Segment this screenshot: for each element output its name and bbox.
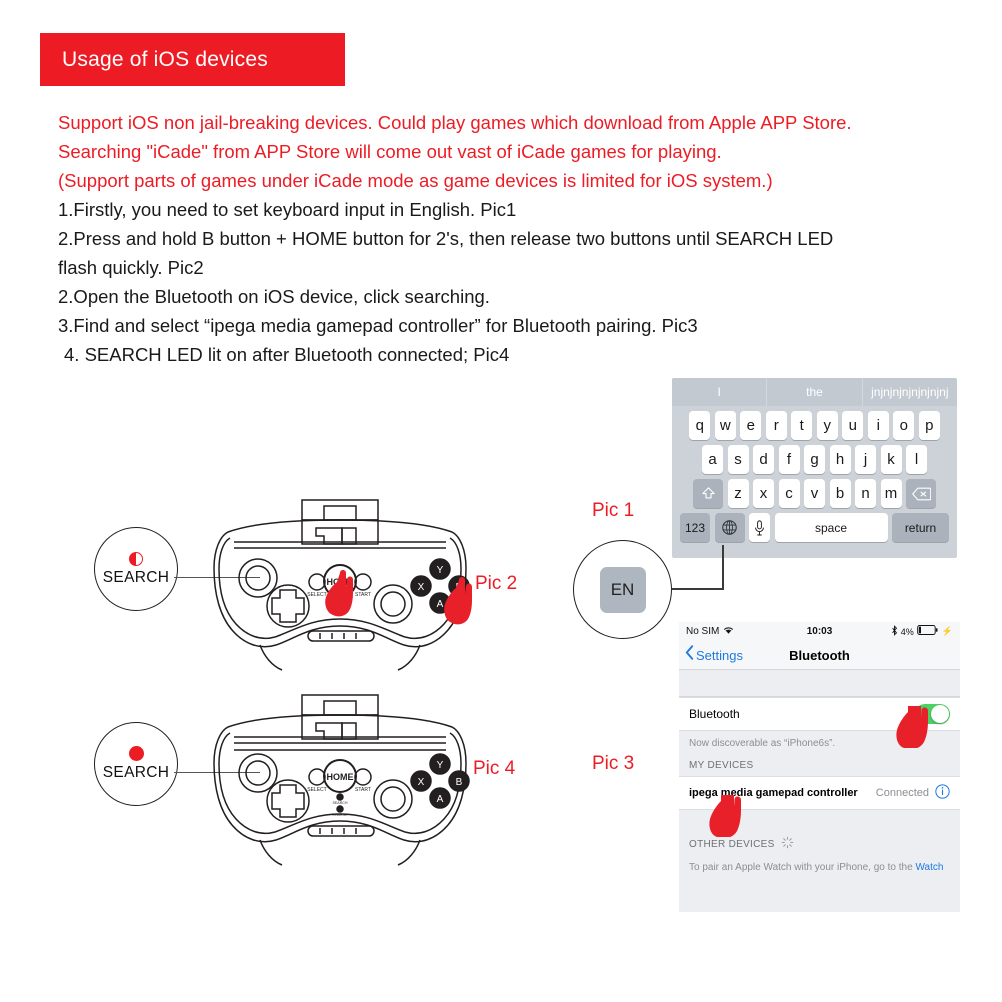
battery-percent: 4% bbox=[901, 627, 914, 637]
numeric-key[interactable]: 123 bbox=[680, 513, 710, 542]
key-h[interactable]: h bbox=[830, 445, 851, 474]
bottom-filler bbox=[679, 876, 960, 912]
my-devices-header: MY DEVICES bbox=[679, 752, 960, 776]
instruction-step-2a: 2.Press and hold B button + HOME button … bbox=[58, 224, 978, 253]
gamepad-diagram-pic4: HOME SELECT START SEARCH CHARGE Y X B A bbox=[190, 693, 490, 868]
key-k[interactable]: k bbox=[881, 445, 902, 474]
page-header-banner: Usage of iOS devices bbox=[40, 33, 345, 86]
device-status: Connected bbox=[876, 787, 929, 799]
svg-text:START: START bbox=[355, 787, 371, 793]
toggle-knob bbox=[931, 705, 949, 723]
prediction-1[interactable]: I bbox=[672, 378, 767, 406]
svg-text:A: A bbox=[437, 794, 444, 805]
instructions-block: Support iOS non jail-breaking devices. C… bbox=[58, 108, 978, 369]
en-leader-vertical bbox=[722, 545, 724, 590]
instruction-step-2b: flash quickly. Pic2 bbox=[58, 253, 978, 282]
key-b[interactable]: b bbox=[830, 479, 851, 508]
activity-spinner-icon bbox=[781, 836, 794, 852]
instruction-step-1: 1.Firstly, you need to set keyboard inpu… bbox=[58, 195, 978, 224]
keyboard-row-2: a s d f g h j k l bbox=[672, 445, 957, 474]
ios-status-bar: No SIM 10:03 4% ⚡ bbox=[679, 622, 960, 641]
key-f[interactable]: f bbox=[779, 445, 800, 474]
en-key-callout: EN bbox=[573, 540, 672, 639]
back-label: Settings bbox=[696, 648, 743, 663]
instruction-step-3: 2.Open the Bluetooth on iOS device, clic… bbox=[58, 282, 978, 311]
key-c[interactable]: c bbox=[779, 479, 800, 508]
page-title: Usage of iOS devices bbox=[40, 48, 268, 72]
key-t[interactable]: t bbox=[791, 411, 812, 440]
svg-text:SELECT: SELECT bbox=[307, 592, 326, 598]
key-m[interactable]: m bbox=[881, 479, 902, 508]
watch-link[interactable]: Watch bbox=[915, 862, 943, 873]
space-key[interactable]: space bbox=[775, 513, 888, 542]
bluetooth-icon bbox=[891, 625, 898, 639]
key-g[interactable]: g bbox=[804, 445, 825, 474]
status-time: 10:03 bbox=[807, 626, 833, 637]
led-indicator-solid-icon bbox=[129, 746, 144, 761]
charging-bolt-icon: ⚡ bbox=[942, 626, 953, 637]
carrier-label: No SIM bbox=[686, 626, 719, 637]
en-key-box: EN bbox=[600, 567, 646, 613]
info-icon[interactable] bbox=[935, 784, 950, 802]
key-i[interactable]: i bbox=[868, 411, 889, 440]
keyboard-row-3: z x c v b n m bbox=[672, 479, 957, 508]
key-n[interactable]: n bbox=[855, 479, 876, 508]
svg-text:START: START bbox=[355, 592, 371, 598]
key-w[interactable]: w bbox=[715, 411, 736, 440]
wifi-icon bbox=[723, 626, 734, 638]
svg-text:X: X bbox=[418, 582, 425, 593]
svg-text:SEARCH: SEARCH bbox=[333, 801, 348, 805]
predictive-text-bar[interactable]: I the jnjnjnjnjnjnjnjnj bbox=[672, 378, 957, 406]
hand-pointer-device bbox=[708, 795, 742, 842]
search-label-lit: SEARCH bbox=[103, 764, 169, 782]
return-key[interactable]: return bbox=[892, 513, 949, 542]
navigation-bar: Settings Bluetooth bbox=[679, 641, 960, 670]
battery-icon bbox=[917, 625, 939, 638]
section-gap bbox=[679, 670, 960, 697]
instruction-red-1: Support iOS non jail-breaking devices. C… bbox=[58, 108, 978, 137]
key-p[interactable]: p bbox=[919, 411, 940, 440]
shift-icon[interactable] bbox=[693, 479, 723, 508]
nav-title: Bluetooth bbox=[789, 648, 850, 663]
search-led-flash-callout: SEARCH bbox=[94, 527, 178, 611]
svg-text:A: A bbox=[437, 599, 444, 610]
ios-keyboard[interactable]: I the jnjnjnjnjnjnjnjnj q w e r t y u i … bbox=[672, 378, 957, 558]
svg-text:HOME: HOME bbox=[327, 772, 354, 782]
svg-text:X: X bbox=[418, 777, 425, 788]
key-v[interactable]: v bbox=[804, 479, 825, 508]
key-l[interactable]: l bbox=[906, 445, 927, 474]
hand-pointer-toggle bbox=[895, 706, 929, 753]
key-q[interactable]: q bbox=[689, 411, 710, 440]
pic-label-1: Pic 1 bbox=[592, 500, 634, 522]
bluetooth-toggle-label: Bluetooth bbox=[689, 707, 740, 721]
key-x[interactable]: x bbox=[753, 479, 774, 508]
hand-pointer-b bbox=[444, 577, 472, 624]
microphone-icon[interactable] bbox=[749, 513, 770, 542]
pic-label-3: Pic 3 bbox=[592, 753, 634, 775]
svg-text:B: B bbox=[456, 777, 463, 788]
key-z[interactable]: z bbox=[728, 479, 749, 508]
backspace-icon[interactable] bbox=[906, 479, 936, 508]
chevron-left-icon bbox=[685, 645, 694, 665]
key-y[interactable]: y bbox=[817, 411, 838, 440]
pic-label-4: Pic 4 bbox=[473, 758, 515, 780]
back-button[interactable]: Settings bbox=[679, 645, 743, 665]
ios-bluetooth-screen[interactable]: No SIM 10:03 4% ⚡ Settings Bluetooth Blu… bbox=[679, 622, 960, 912]
instruction-red-3: (Support parts of games under iCade mode… bbox=[58, 166, 978, 195]
en-leader-horizontal bbox=[672, 588, 724, 590]
search-led-lit-callout: SEARCH bbox=[94, 722, 178, 806]
watch-note-text: To pair an Apple Watch with your iPhone,… bbox=[689, 862, 915, 873]
key-s[interactable]: s bbox=[728, 445, 749, 474]
key-o[interactable]: o bbox=[893, 411, 914, 440]
instruction-red-2: Searching "iCade" from APP Store will co… bbox=[58, 137, 978, 166]
led-indicator-half-icon bbox=[129, 552, 143, 566]
globe-icon[interactable] bbox=[715, 513, 745, 542]
keyboard-row-1: q w e r t y u i o p bbox=[672, 411, 957, 440]
prediction-3[interactable]: jnjnjnjnjnjnjnjnj bbox=[863, 378, 957, 406]
key-e[interactable]: e bbox=[740, 411, 761, 440]
search-label-flash: SEARCH bbox=[103, 569, 169, 587]
apple-watch-note: To pair an Apple Watch with your iPhone,… bbox=[679, 857, 960, 876]
key-d[interactable]: d bbox=[753, 445, 774, 474]
key-u[interactable]: u bbox=[842, 411, 863, 440]
instruction-step-4: 3.Find and select “ipega media gamepad c… bbox=[58, 311, 978, 340]
svg-text:Y: Y bbox=[437, 760, 444, 771]
prediction-2[interactable]: the bbox=[767, 378, 862, 406]
keyboard-row-4: 123 space return bbox=[672, 513, 957, 542]
svg-text:Y: Y bbox=[437, 565, 444, 576]
key-j[interactable]: j bbox=[855, 445, 876, 474]
svg-text:CHARGE: CHARGE bbox=[332, 813, 348, 817]
instruction-step-5: 4. SEARCH LED lit on after Bluetooth con… bbox=[58, 340, 978, 369]
svg-text:SELECT: SELECT bbox=[307, 787, 326, 793]
gamepad-diagram-pic2: HOME SELECT START Y X B A bbox=[190, 498, 490, 673]
key-a[interactable]: a bbox=[702, 445, 723, 474]
key-r[interactable]: r bbox=[766, 411, 787, 440]
